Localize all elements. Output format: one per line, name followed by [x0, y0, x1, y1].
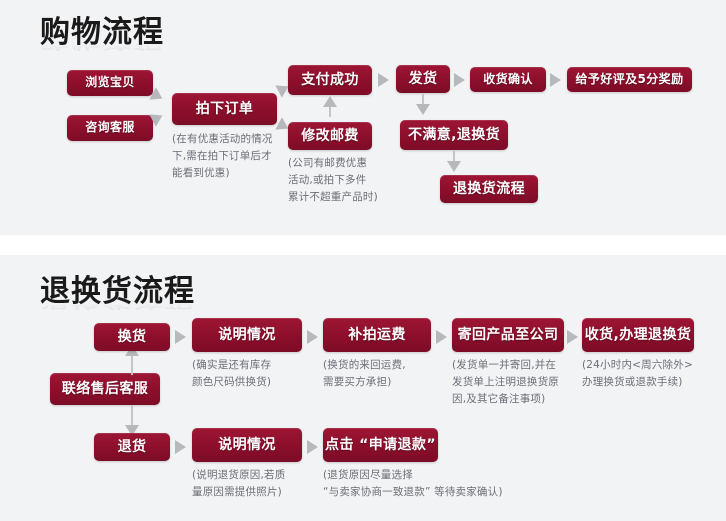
box-receive-and-process[interactable]: 收货,办理退换货 — [582, 318, 694, 352]
box-return-goods[interactable]: 退货 — [94, 433, 170, 461]
caption-modify-shipping-note: (公司有邮费优惠 活动,或拍下多件 累计不超重产品时) — [288, 155, 398, 206]
box-explain-situation-exchange[interactable]: 说明情况 — [192, 318, 302, 352]
page-title-shopping-reflection: 购物流程 — [40, 41, 164, 51]
box-dissatisfied-return[interactable]: 不满意,退换货 — [400, 120, 508, 150]
box-click-apply-refund[interactable]: 点击 “申请退款” — [323, 428, 438, 462]
box-browse-product[interactable]: 浏览宝贝 — [67, 70, 153, 96]
box-modify-shipping-fee[interactable]: 修改邮费 — [288, 122, 372, 150]
arrow-dissatisfied-to-flow-icon — [447, 161, 461, 172]
box-return-exchange-flow[interactable]: 退换货流程 — [440, 175, 538, 203]
box-leave-good-review[interactable]: 给予好评及5分奖励 — [567, 67, 692, 92]
section-shopping-flow: 购物流程 购物流程 浏览宝贝 咨询客服 拍下订单 (在有优惠活动的情况 下,需在… — [0, 0, 726, 235]
box-place-order[interactable]: 拍下订单 — [172, 93, 277, 125]
return-heading-group: 退换货流程 退换货流程 — [40, 275, 195, 328]
caption-send-back-note: (发货单一并寄回,并在 发货单上注明退换货原 因,及其它备注事项) — [452, 357, 574, 408]
stem-contact-down — [131, 405, 133, 427]
box-explain-situation-refund[interactable]: 说明情况 — [192, 428, 302, 462]
arrow-extra-shipping-to-sendback-icon — [436, 330, 447, 344]
arrow-explain-refund-to-click-icon — [307, 440, 318, 454]
box-exchange-goods[interactable]: 换货 — [94, 323, 170, 351]
arrow-sendback-to-receive-icon — [567, 330, 578, 344]
box-payment-success[interactable]: 支付成功 — [288, 65, 372, 95]
arrow-exchange-to-explain-icon — [175, 330, 186, 344]
caption-extra-shipping-note: (换货的来回运费, 需要买方承担) — [323, 357, 438, 391]
stem-contact-up — [131, 353, 133, 375]
arrow-shipping-to-pay-icon — [323, 96, 337, 107]
arrow-explain-to-extra-shipping-icon — [307, 330, 318, 344]
box-consult-service[interactable]: 咨询客服 — [67, 115, 153, 141]
arrow-ship-to-dissatisfied-icon — [416, 104, 430, 115]
caption-receive-process-note: (24小时内<周六除外> 办理换货或退款手续) — [582, 357, 712, 391]
box-contact-after-sales[interactable]: 联络售后客服 — [50, 373, 160, 405]
page-title-return-reflection: 退换货流程 — [40, 300, 195, 310]
box-send-back-to-company[interactable]: 寄回产品至公司 — [452, 318, 564, 352]
box-ship-goods[interactable]: 发货 — [396, 65, 450, 93]
shopping-heading-group: 购物流程 购物流程 — [40, 16, 164, 69]
box-confirm-receipt[interactable]: 收货确认 — [470, 67, 546, 92]
arrow-confirm-to-review-icon — [550, 73, 561, 87]
section-return-flow: 退换货流程 退换货流程 联络售后客服 换货 说明情况 (确实是还有库存 颜色尺码… — [0, 255, 726, 521]
arrow-pay-to-ship-icon — [378, 73, 389, 87]
caption-place-order-note: (在有优惠活动的情况 下,需在拍下订单后才 能看到优惠) — [172, 131, 292, 182]
box-extra-shipping-fee[interactable]: 补拍运费 — [323, 318, 431, 352]
arrow-refund-to-explain-icon — [175, 440, 186, 454]
caption-explain-exchange-note: (确实是还有库存 颜色尺码供换货) — [192, 357, 307, 391]
caption-explain-refund-note: (说明退货原因,若质 量原因需提供照片) — [192, 467, 310, 501]
section-divider — [0, 235, 726, 255]
flowchart-page: 购物流程 购物流程 浏览宝贝 咨询客服 拍下订单 (在有优惠活动的情况 下,需在… — [0, 0, 726, 521]
arrow-ship-to-confirm-icon — [454, 73, 465, 87]
caption-click-refund-note: (退货原因尽量选择 “与卖家协商一致退款” 等待卖家确认) — [323, 467, 613, 501]
